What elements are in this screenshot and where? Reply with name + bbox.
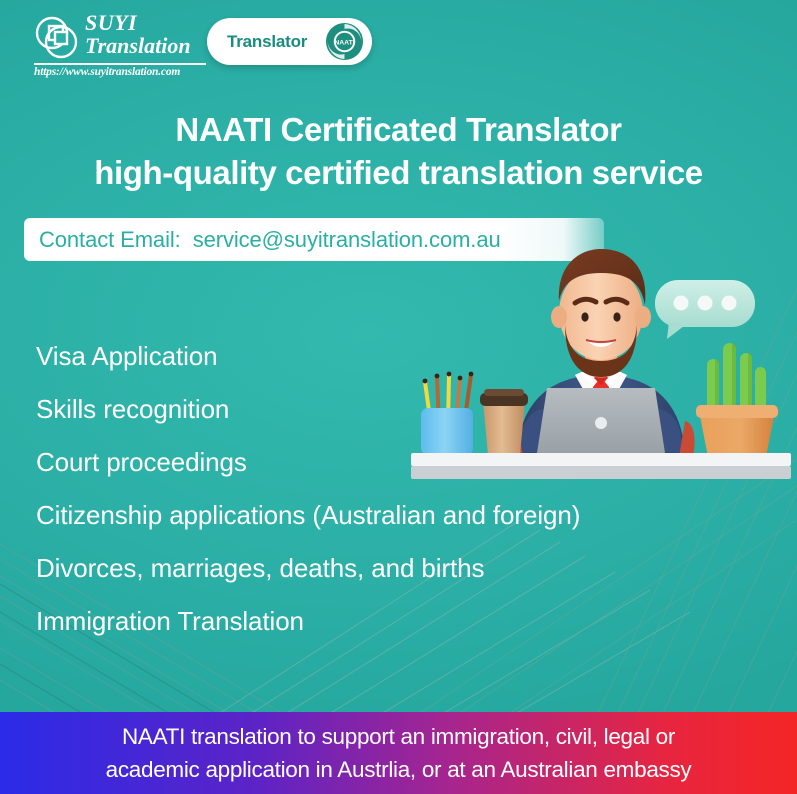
service-item: Visa Application: [36, 330, 776, 383]
service-item: Skills recognition: [36, 383, 776, 436]
brand-website-url[interactable]: https://www.suyitranslation.com: [34, 66, 214, 78]
translator-badge[interactable]: Translator NAATI: [207, 18, 372, 65]
brand-logo[interactable]: SUYI Translation https://www.suyitransla…: [30, 9, 210, 79]
suyi-overlapping-circle-square-logo: [32, 13, 80, 61]
naati-seal-icon: NAATI: [325, 22, 364, 61]
service-item: Court proceedings: [36, 436, 776, 489]
brand-name-line1: SUYI: [85, 11, 215, 34]
logo-divider: [34, 63, 206, 65]
services-list: Visa Application Skills recognition Cour…: [36, 330, 776, 648]
svg-text:NAATI: NAATI: [334, 39, 354, 46]
bottom-banner: NAATI translation to support an immigrat…: [0, 712, 797, 794]
headline-line1: NAATI Certificated Translator: [0, 108, 797, 151]
translator-badge-label: Translator: [227, 32, 307, 52]
service-item: Citizenship applications (Australian and…: [36, 489, 776, 542]
headline: NAATI Certificated Translator high-quali…: [0, 108, 797, 194]
brand-name-line2: Translation: [85, 34, 215, 58]
service-item: Divorces, marriages, deaths, and births: [36, 542, 776, 595]
poster-canvas: SUYI Translation https://www.suyitransla…: [0, 0, 797, 794]
contact-email-label: Contact Email:: [39, 227, 181, 252]
header: SUYI Translation https://www.suyitransla…: [0, 0, 797, 88]
headline-line2: high-quality certified translation servi…: [0, 151, 797, 194]
banner-line2: academic application in Austrlia, or at …: [106, 753, 692, 786]
brand-logo-text: SUYI Translation: [85, 11, 215, 58]
service-item: Immigration Translation: [36, 595, 776, 648]
banner-line1: NAATI translation to support an immigrat…: [122, 720, 675, 753]
